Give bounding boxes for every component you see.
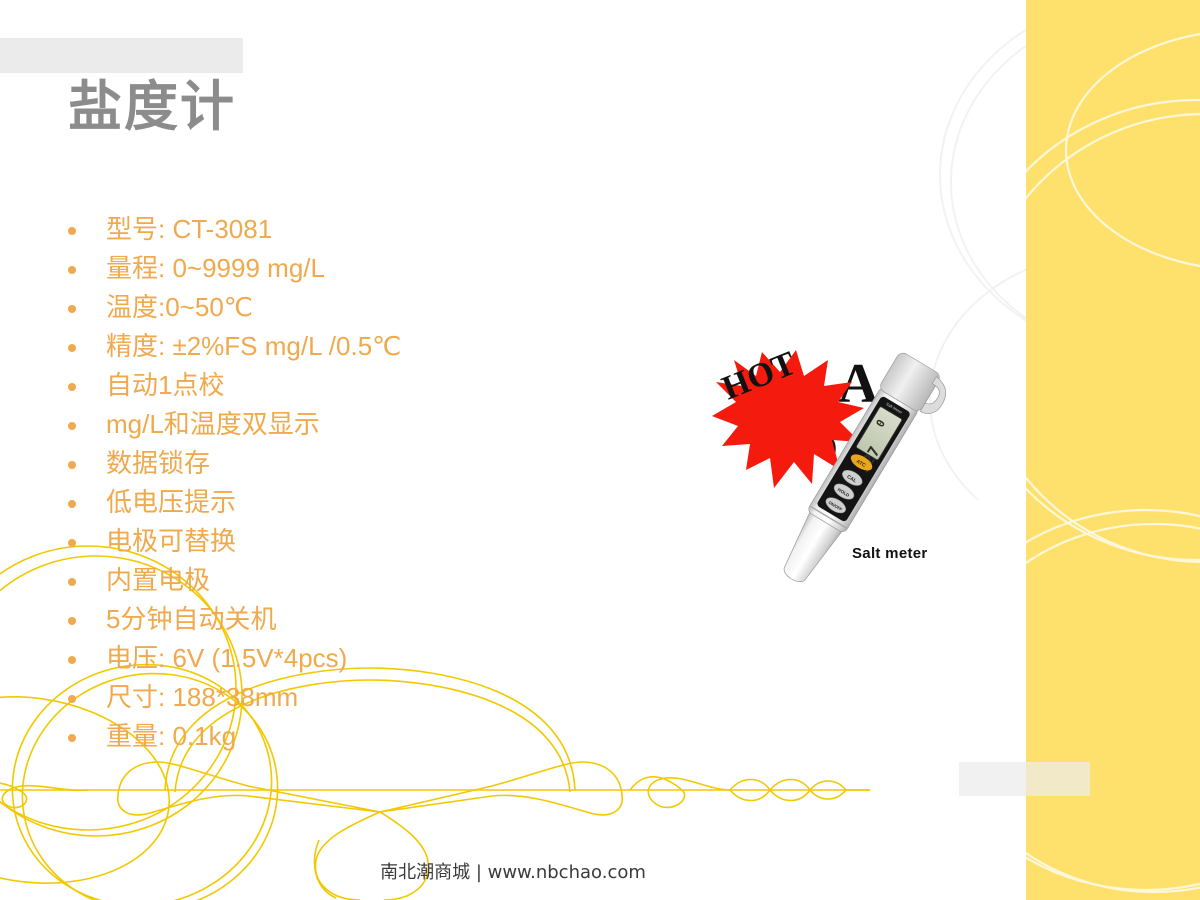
bullet-dot-icon (68, 695, 76, 703)
list-item-label: 电压: 6V (1.5V*4pcs) (106, 643, 347, 673)
list-item: mg/L和温度双显示 (68, 409, 688, 448)
list-item: 电极可替换 (68, 526, 688, 565)
bullet-dot-icon (68, 344, 76, 352)
footer-accent-bar (959, 762, 1090, 796)
bullet-dot-icon (68, 227, 76, 235)
list-item-label: 重量: 0.1kg (106, 721, 236, 751)
list-item-label: 尺寸: 188*38mm (106, 682, 298, 712)
list-item-label: 型号: CT-3081 (106, 214, 272, 244)
bullet-dot-icon (68, 383, 76, 391)
list-item-label: 内置电极 (106, 565, 210, 595)
bullet-dot-icon (68, 539, 76, 547)
list-item-label: mg/L和温度双显示 (106, 409, 320, 439)
bullet-dot-icon (68, 266, 76, 274)
footer-text: 南北潮商城 | www.nbchao.com (0, 858, 1026, 884)
list-item-label: 低电压提示 (106, 487, 236, 517)
list-item: 精度: ±2%FS mg/L /0.5℃ (68, 331, 688, 370)
product-image: A 0 HOT (700, 330, 1000, 600)
list-item: 重量: 0.1kg (68, 721, 688, 760)
slide-canvas: 盐度计 型号: CT-3081 量程: 0~9999 mg/L 温度:0~50℃… (0, 0, 1200, 900)
bullet-dot-icon (68, 500, 76, 508)
spec-bullet-list: 型号: CT-3081 量程: 0~9999 mg/L 温度:0~50℃ 精度:… (68, 214, 688, 760)
list-item: 型号: CT-3081 (68, 214, 688, 253)
bullet-dot-icon (68, 422, 76, 430)
list-item: 低电压提示 (68, 487, 688, 526)
page-title: 盐度计 (68, 78, 236, 137)
product-caption: Salt meter (852, 545, 928, 562)
list-item-label: 自动1点校 (106, 370, 224, 400)
list-item-label: 电极可替换 (106, 526, 236, 556)
bullet-dot-icon (68, 734, 76, 742)
list-item: 5分钟自动关机 (68, 604, 688, 643)
bullet-dot-icon (68, 656, 76, 664)
list-item: 尺寸: 188*38mm (68, 682, 688, 721)
bullet-dot-icon (68, 461, 76, 469)
list-item-label: 量程: 0~9999 mg/L (106, 253, 325, 283)
list-item: 数据锁存 (68, 448, 688, 487)
bullet-dot-icon (68, 305, 76, 313)
list-item-label: 5分钟自动关机 (106, 604, 276, 634)
list-item: 自动1点校 (68, 370, 688, 409)
list-item: 内置电极 (68, 565, 688, 604)
bullet-dot-icon (68, 578, 76, 586)
list-item-label: 精度: ±2%FS mg/L /0.5℃ (106, 331, 401, 361)
list-item: 量程: 0~9999 mg/L (68, 253, 688, 292)
list-item: 温度:0~50℃ (68, 292, 688, 331)
list-item-label: 数据锁存 (106, 448, 210, 478)
list-item-label: 温度:0~50℃ (106, 292, 253, 322)
title-accent-bar (0, 38, 243, 73)
list-item: 电压: 6V (1.5V*4pcs) (68, 643, 688, 682)
bullet-dot-icon (68, 617, 76, 625)
